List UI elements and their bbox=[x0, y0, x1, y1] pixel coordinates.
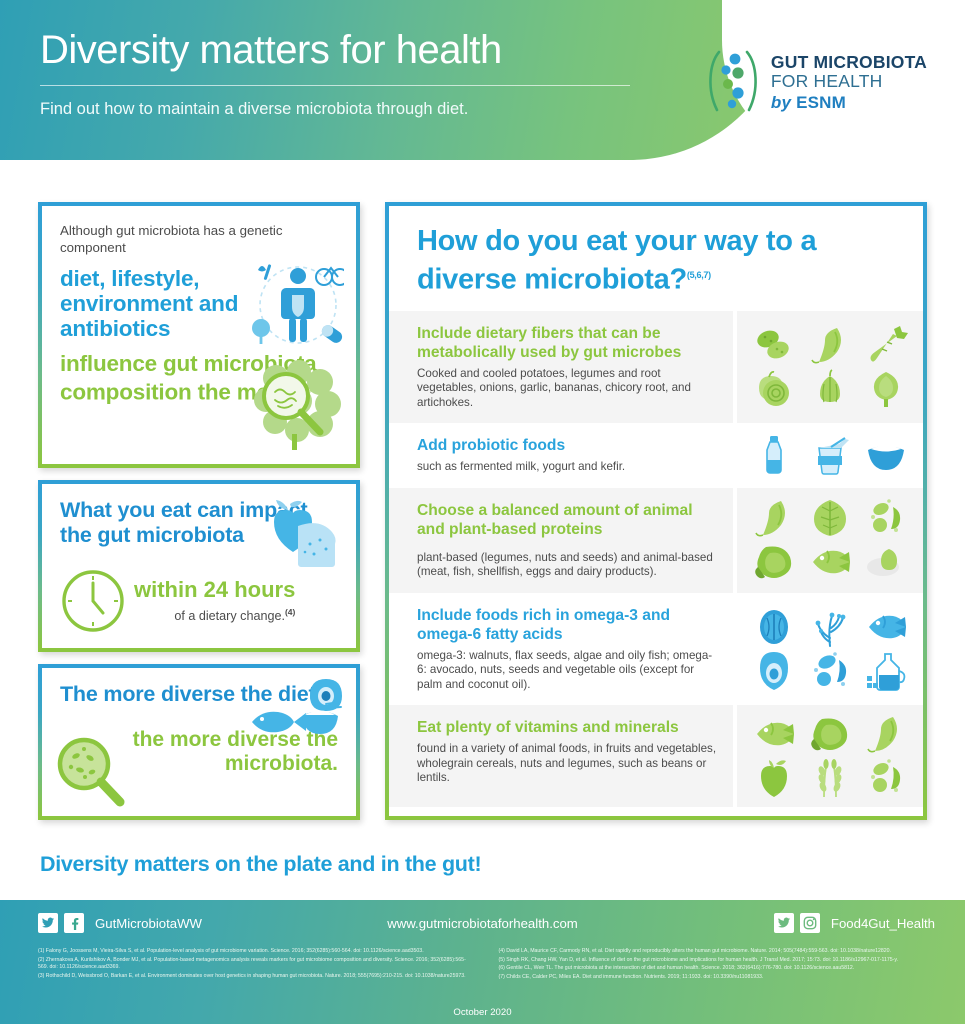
publication-date: October 2020 bbox=[0, 1007, 965, 1018]
footer-social-bar: GutMicrobiotaWW www.gutmicrobiotaforheal… bbox=[0, 900, 965, 946]
avocado-icon bbox=[751, 650, 797, 692]
row-icon-grid bbox=[737, 593, 923, 706]
header-divider bbox=[40, 85, 630, 86]
row-heading: Choose a balanced amount of animal and p… bbox=[417, 501, 719, 539]
logo-line-1: GUT MICROBIOTA bbox=[771, 54, 927, 72]
tree-icon bbox=[252, 319, 270, 344]
clock-icon bbox=[60, 568, 126, 634]
card-influence-factors: Although gut microbiota has a genetic co… bbox=[38, 202, 360, 468]
logo-by-text: by bbox=[771, 93, 791, 112]
row-body: Cooked and cooled potatoes, legumes and … bbox=[417, 367, 719, 411]
row-vitamins-minerals: Eat plenty of vitamins and minerals foun… bbox=[389, 705, 923, 807]
potato-icon bbox=[751, 324, 797, 366]
row-body: plant-based (legumes, nuts and seeds) an… bbox=[417, 551, 719, 580]
instagram-icon[interactable] bbox=[800, 913, 820, 933]
nuts-icon bbox=[863, 757, 909, 799]
seeds-icon bbox=[807, 650, 853, 692]
row-body: found in a variety of animal foods, in f… bbox=[417, 742, 719, 786]
logo-wordmark: GUT MICROBIOTA FOR HEALTH by ESNM bbox=[771, 52, 927, 111]
row-icon-grid bbox=[737, 705, 923, 807]
artichoke-icon bbox=[863, 368, 909, 410]
pill-icon bbox=[320, 323, 344, 345]
card-24h-text-right: within 24 hours of a dietary change.(4) bbox=[134, 578, 295, 623]
apple-bread-icon bbox=[248, 496, 344, 572]
reference-item: (2) Zhernakova A, Kurilshikov A, Bonder … bbox=[38, 957, 475, 972]
logo-esnm-text: ESNM bbox=[796, 93, 846, 112]
lifestyle-person-icon bbox=[248, 258, 344, 352]
brand-logo[interactable]: GUT MICROBIOTA FOR HEALTH by ESNM bbox=[705, 48, 927, 114]
row-icon-grid bbox=[737, 488, 923, 593]
meat-icon bbox=[751, 541, 797, 583]
reference-item: (5) Singh RK, Chang HW, Yan D, et al. In… bbox=[499, 957, 936, 965]
reference-item: (7) Childs CE, Calder PC, Miles EA. Diet… bbox=[499, 974, 936, 982]
row-heading: Include dietary fibers that can be metab… bbox=[417, 324, 719, 362]
row-balanced-proteins: Choose a balanced amount of animal and p… bbox=[389, 488, 923, 593]
references-column-left: (1) Falony G, Joossens M, Vieira-Silva S… bbox=[38, 948, 475, 982]
row-heading: Include foods rich in omega-3 and omega-… bbox=[417, 606, 719, 644]
apple-icon bbox=[751, 757, 797, 799]
microbiota-sprout-icon bbox=[705, 48, 761, 114]
fish-icon bbox=[863, 606, 909, 648]
meat-icon bbox=[807, 713, 853, 755]
reference-item: (6) Gentile CL, Weir TL. The gut microbi… bbox=[499, 965, 936, 973]
pea-pod-icon bbox=[751, 497, 797, 539]
row-icon-grid bbox=[737, 423, 923, 488]
twitter-icon[interactable] bbox=[774, 913, 794, 933]
page-title: Diversity matters for health bbox=[40, 26, 660, 74]
panel-title-label: How do you eat your way to a diverse mic… bbox=[417, 225, 816, 296]
footer-handle-right[interactable]: Food4Gut_Health bbox=[831, 916, 935, 931]
yogurt-cup-icon bbox=[807, 434, 853, 476]
walnut-icon bbox=[751, 606, 797, 648]
card-24h-reference: (4) bbox=[285, 607, 295, 617]
panel-how-to-eat: How do you eat your way to a diverse mic… bbox=[385, 202, 927, 820]
page-footer: GutMicrobiotaWW www.gutmicrobiotaforheal… bbox=[0, 900, 965, 1024]
card-more-diverse: The more diverse the diet, the more dive… bbox=[38, 664, 360, 820]
card-24h-note-label: of a dietary change. bbox=[174, 610, 285, 624]
algae-icon bbox=[807, 606, 853, 648]
reference-item: (1) Falony G, Joossens M, Vieira-Silva S… bbox=[38, 948, 475, 956]
pea-pod-icon bbox=[863, 713, 909, 755]
card-24h-bottom-row: within 24 hours of a dietary change.(4) bbox=[60, 568, 338, 634]
row-text-block: Include foods rich in omega-3 and omega-… bbox=[389, 593, 733, 706]
row-probiotic-foods: Add probiotic foods such as fermented mi… bbox=[389, 423, 923, 488]
references-block: (1) Falony G, Joossens M, Vieira-Silva S… bbox=[0, 946, 965, 982]
logo-line-3: by ESNM bbox=[771, 94, 927, 111]
card-influence-intro: Although gut microbiota has a genetic co… bbox=[60, 222, 338, 256]
leaf-icon bbox=[807, 497, 853, 539]
bowl-icon bbox=[863, 434, 909, 476]
logo-line-2: FOR HEALTH bbox=[771, 73, 927, 91]
onion-icon bbox=[751, 368, 797, 410]
gut-magnifier-icon bbox=[242, 356, 346, 452]
milk-bottle-icon bbox=[751, 434, 797, 476]
nuts-icon bbox=[863, 497, 909, 539]
card-24h-note: of a dietary change.(4) bbox=[134, 607, 295, 623]
pea-pod-icon bbox=[807, 324, 853, 366]
row-heading: Eat plenty of vitamins and minerals bbox=[417, 718, 719, 737]
panel-title-reference: (5,6,7) bbox=[687, 270, 711, 280]
header-text-block: Diversity matters for health Find out ho… bbox=[40, 26, 660, 120]
microbiota-magnifier-icon bbox=[54, 736, 130, 808]
card-24-hours: What you eat can impact the gut microbio… bbox=[38, 480, 360, 652]
row-text-block: Include dietary fibers that can be metab… bbox=[389, 311, 733, 424]
row-body: such as fermented milk, yogurt and kefir… bbox=[417, 460, 719, 475]
row-text-block: Add probiotic foods such as fermented mi… bbox=[389, 423, 733, 488]
carrot-icon bbox=[863, 324, 909, 366]
avocado-icon bbox=[310, 679, 342, 711]
row-dietary-fibers: Include dietary fibers that can be metab… bbox=[389, 311, 923, 424]
avocado-fish-bowl-icon bbox=[244, 676, 346, 750]
card-24h-green-text: within 24 hours bbox=[134, 578, 295, 602]
fish-icon bbox=[807, 541, 853, 583]
page-header: Diversity matters for health Find out ho… bbox=[0, 0, 965, 160]
fish-icon bbox=[252, 712, 306, 733]
oil-bottle-icon bbox=[863, 650, 909, 692]
row-text-block: Eat plenty of vitamins and minerals foun… bbox=[389, 705, 733, 807]
reference-item: (4) David LA, Maurice CF, Carmody RN, et… bbox=[499, 948, 936, 956]
row-body: omega-3: walnuts, flax seeds, algae and … bbox=[417, 649, 719, 693]
references-column-right: (4) David LA, Maurice CF, Carmody RN, et… bbox=[499, 948, 936, 982]
garlic-icon bbox=[807, 368, 853, 410]
row-omega-fatty-acids: Include foods rich in omega-3 and omega-… bbox=[389, 593, 923, 706]
egg-icon bbox=[863, 541, 909, 583]
row-text-block: Choose a balanced amount of animal and p… bbox=[389, 488, 733, 593]
row-icon-grid bbox=[737, 311, 923, 424]
row-heading: Add probiotic foods bbox=[417, 436, 719, 455]
wheat-icon bbox=[807, 757, 853, 799]
reference-item: (3) Rothschild D, Weissbrod O, Barkan E,… bbox=[38, 973, 475, 981]
fish-icon bbox=[751, 713, 797, 755]
page-subtitle: Find out how to maintain a diverse micro… bbox=[40, 98, 660, 120]
tagline: Diversity matters on the plate and in th… bbox=[40, 852, 481, 877]
panel-title: How do you eat your way to a diverse mic… bbox=[389, 206, 923, 311]
social-right-group[interactable]: Food4Gut_Health bbox=[774, 913, 935, 933]
